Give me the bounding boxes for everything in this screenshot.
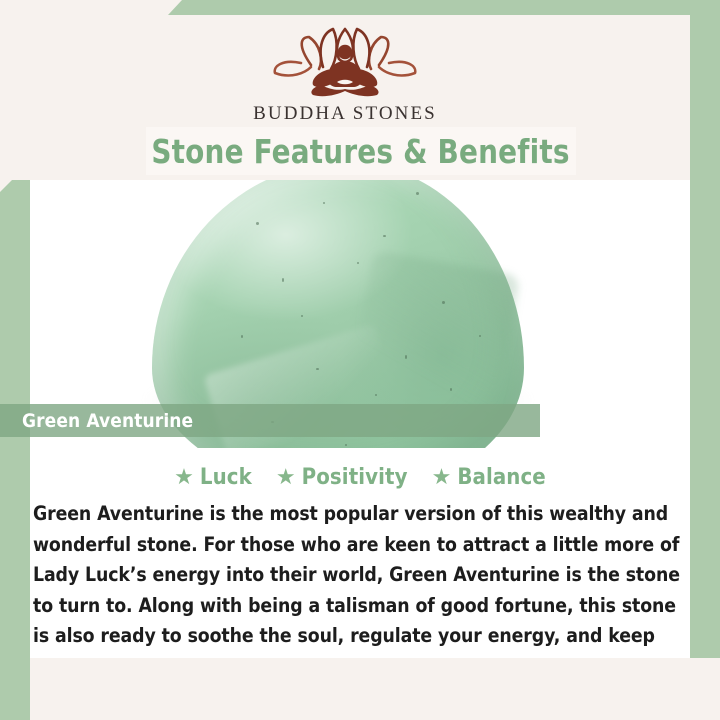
photo-caption-bar: Green Aventurine (0, 404, 540, 437)
star-icon: ★ (276, 466, 296, 488)
brand-logo: BUDDHA STONES (0, 25, 690, 125)
star-icon: ★ (174, 466, 194, 488)
star-icon: ★ (432, 466, 452, 488)
frame-left-accent (0, 178, 30, 706)
lotus-meditation-icon (261, 25, 429, 99)
photo-caption-label: Green Aventurine (22, 410, 193, 432)
keyword-item-luck: ★ Luck (174, 465, 252, 490)
keyword-list: ★ Luck ★ Positivity ★ Balance (30, 448, 690, 490)
keyword-label: Balance (457, 465, 546, 490)
poster-canvas: BUDDHA STONES Stone Features & Benefits (0, 0, 720, 720)
keyword-item-positivity: ★ Positivity (276, 465, 408, 490)
bottom-cream-strip-right (560, 658, 720, 720)
page-title: Stone Features & Benefits (152, 132, 570, 171)
keyword-label: Luck (200, 465, 252, 490)
keyword-item-balance: ★ Balance (432, 465, 546, 490)
brand-name: BUDDHA STONES (253, 103, 437, 125)
stone-description: Green Aventurine is the most popular ver… (33, 499, 686, 682)
keyword-label: Positivity (302, 465, 408, 490)
content-panel: ★ Luck ★ Positivity ★ Balance Green Aven… (30, 448, 690, 658)
title-banner: Stone Features & Benefits (146, 127, 576, 175)
frame-right-accent (690, 0, 720, 720)
frame-top-accent (0, 0, 720, 15)
